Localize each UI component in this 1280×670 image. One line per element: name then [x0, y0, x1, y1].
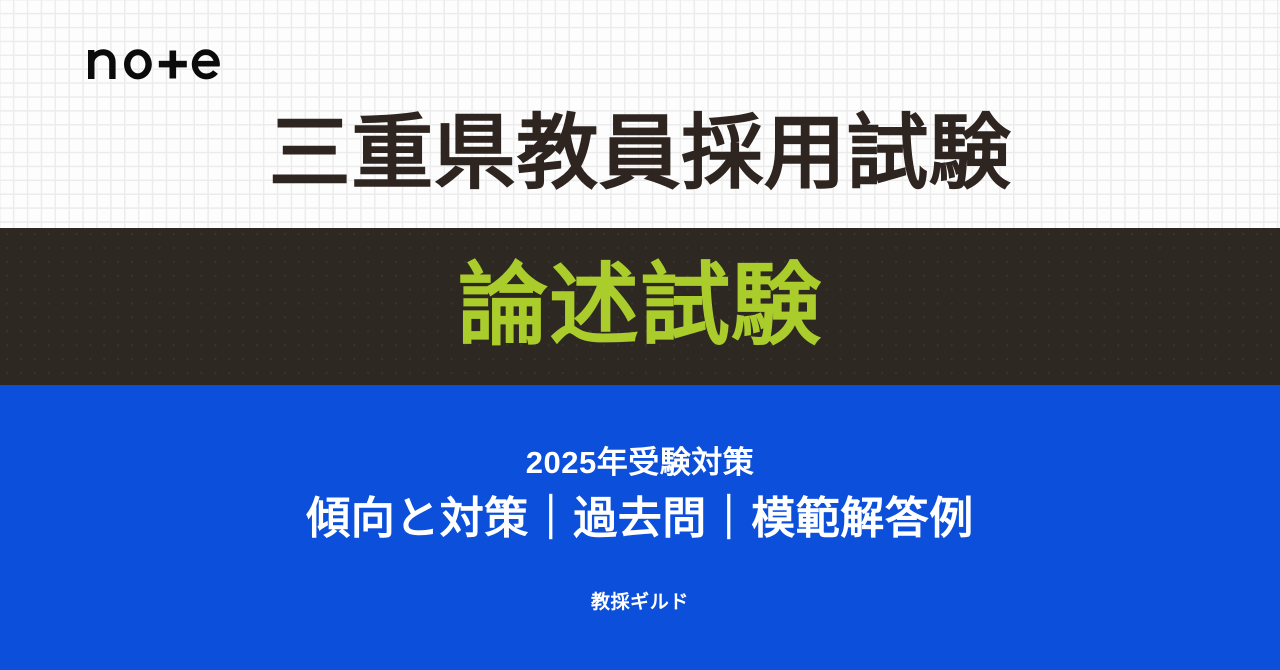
exam-year-label: 2025年受験対策 [0, 443, 1280, 483]
brand-label: 教採ギルド [0, 590, 1280, 616]
page-title: 三重県教員採用試験 [0, 102, 1280, 206]
note-logo[interactable] [86, 38, 220, 82]
subject-band: 論述試験 [0, 228, 1280, 385]
hero-section: 三重県教員採用試験 [0, 0, 1280, 228]
note-wordmark-icon [86, 38, 220, 82]
topics-label: 傾向と対策｜過去問｜模範解答例 [0, 490, 1280, 548]
info-band: 2025年受験対策 傾向と対策｜過去問｜模範解答例 教採ギルド [0, 385, 1280, 670]
poster-thumbnail: 三重県教員採用試験 論述試験 2025年受験対策 傾向と対策｜過去問｜模範解答例… [0, 0, 1280, 670]
subject-title: 論述試験 [0, 248, 1280, 364]
